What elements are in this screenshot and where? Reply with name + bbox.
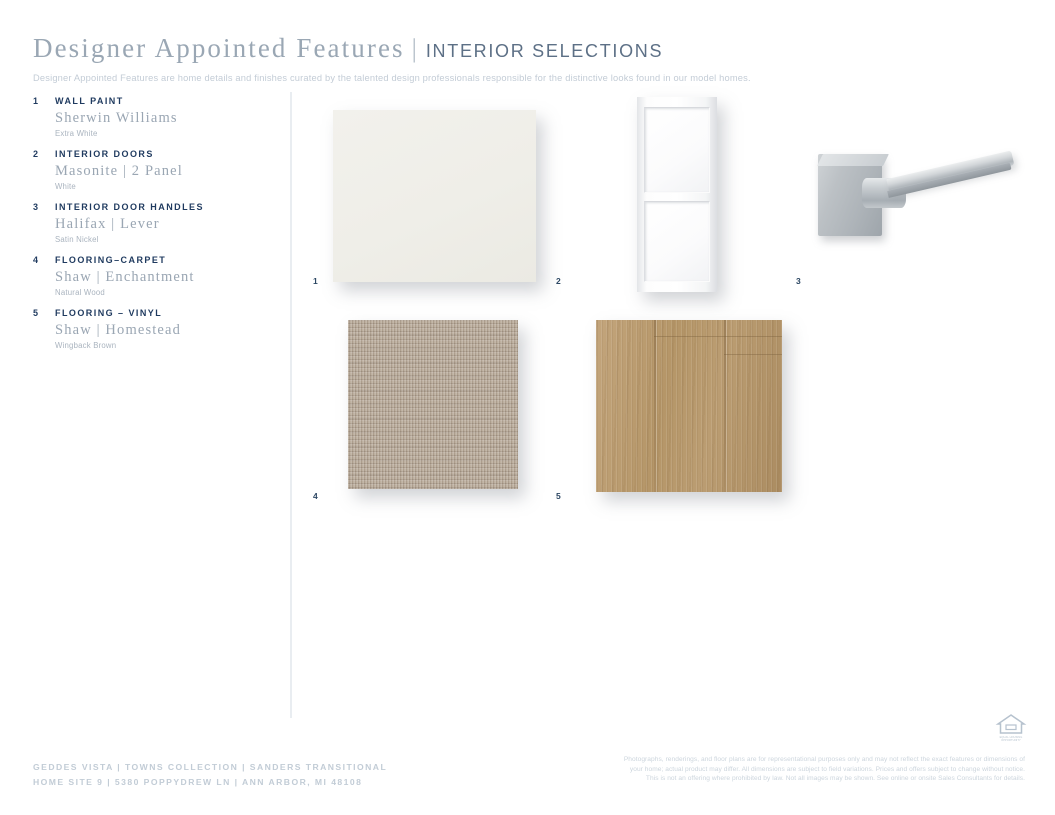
swatch-number-1: 1	[313, 276, 318, 286]
swatch-paint-chip	[333, 110, 536, 282]
swatch-board: 1 2 3 4 5	[0, 0, 1055, 815]
footer-line-1: GEDDES VISTA | TOWNS COLLECTION | SANDER…	[33, 760, 387, 775]
door-panel-top	[644, 107, 710, 193]
footer-line-2: HOME SITE 9 | 5380 POPPYDREW LN | ANN AR…	[33, 775, 387, 790]
swatch-number-4: 4	[313, 491, 318, 501]
disclaimer-line-1: Photographs, renderings, and floor plans…	[565, 755, 1025, 765]
footer-disclaimer: Photographs, renderings, and floor plans…	[565, 755, 1025, 784]
handle-rosette-bevel	[817, 154, 889, 166]
swatch-number-3: 3	[796, 276, 801, 286]
swatch-door-handle	[818, 150, 1013, 240]
plank-seam-horizontal	[724, 354, 782, 355]
swatch-number-2: 2	[556, 276, 561, 286]
disclaimer-line-2: your home; actual product may differ. Al…	[565, 765, 1025, 775]
door-panel-bottom	[644, 201, 710, 282]
swatch-interior-door	[637, 97, 717, 292]
door-stile	[644, 103, 710, 286]
plank-seam-horizontal	[654, 336, 782, 337]
footer-community-info: GEDDES VISTA | TOWNS COLLECTION | SANDER…	[33, 760, 387, 790]
equal-housing-opportunity-icon: EQUAL HOUSING OPPORTUNITY	[994, 712, 1028, 744]
swatch-vinyl-plank	[596, 320, 782, 492]
equal-housing-label: EQUAL HOUSING OPPORTUNITY	[994, 736, 1028, 742]
disclaimer-line-3: This is not an offering where prohibited…	[565, 774, 1025, 784]
house-icon	[994, 712, 1028, 736]
plank-seam	[724, 320, 726, 492]
swatch-number-5: 5	[556, 491, 561, 501]
eho-label-line-2: OPPORTUNITY	[994, 739, 1028, 742]
plank-seam	[654, 320, 656, 492]
swatch-carpet	[348, 320, 518, 489]
